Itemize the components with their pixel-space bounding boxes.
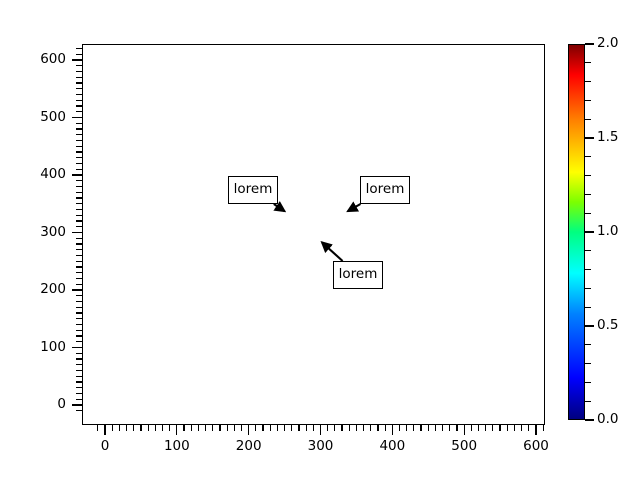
x-axis-major-tick — [535, 425, 536, 435]
colorbar-minor-tick — [585, 307, 591, 308]
y-axis-minor-tick — [76, 324, 82, 325]
x-axis-minor-tick — [428, 425, 429, 431]
colorbar-minor-tick — [585, 156, 591, 157]
y-axis-minor-tick — [76, 249, 82, 250]
x-axis-major-tick — [320, 425, 321, 435]
x-axis-tick-label: 300 — [291, 440, 351, 454]
x-axis-minor-tick — [406, 425, 407, 431]
y-axis-minor-tick — [76, 192, 82, 193]
x-axis-minor-tick — [162, 425, 163, 431]
x-axis-minor-tick — [507, 425, 508, 431]
y-axis-minor-tick — [76, 54, 82, 55]
y-axis-minor-tick — [76, 255, 82, 256]
y-axis-minor-tick — [76, 123, 82, 124]
x-axis-minor-tick — [399, 425, 400, 431]
x-axis-minor-tick — [528, 425, 529, 431]
y-axis-minor-tick — [76, 410, 82, 411]
y-axis-tick-label: 600 — [0, 53, 66, 67]
x-axis-minor-tick — [255, 425, 256, 431]
x-axis-minor-tick — [97, 425, 98, 431]
x-axis-minor-tick — [413, 425, 414, 431]
y-axis-minor-tick — [76, 94, 82, 95]
x-axis-minor-tick — [306, 425, 307, 431]
colorbar-minor-tick — [585, 344, 591, 345]
x-axis-minor-tick — [291, 425, 292, 431]
x-axis-minor-tick — [341, 425, 342, 431]
y-axis-minor-tick — [76, 370, 82, 371]
colorbar-minor-tick — [585, 250, 591, 251]
colorbar-major-tick — [585, 325, 594, 326]
colorbar-tick-label: 0.5 — [597, 319, 618, 333]
y-axis-minor-tick — [76, 134, 82, 135]
axes-frame — [82, 44, 545, 425]
y-axis-minor-tick — [76, 226, 82, 227]
x-axis-minor-tick — [155, 425, 156, 431]
y-axis-minor-tick — [76, 140, 82, 141]
y-axis-minor-tick — [76, 163, 82, 164]
x-axis-minor-tick — [219, 425, 220, 431]
x-axis-minor-tick — [148, 425, 149, 431]
colorbar-minor-tick — [585, 81, 591, 82]
y-axis-minor-tick — [76, 266, 82, 267]
annotation-label-2: lorem — [360, 176, 410, 204]
x-axis-minor-tick — [456, 425, 457, 431]
y-axis-minor-tick — [76, 312, 82, 313]
figure-canvas: 01002003004005006000100200300400500600 l… — [0, 0, 640, 480]
y-axis-minor-tick — [76, 186, 82, 187]
colorbar-minor-tick — [585, 269, 591, 270]
y-axis-minor-tick — [76, 65, 82, 66]
colorbar-minor-tick — [585, 194, 591, 195]
x-axis-minor-tick — [205, 425, 206, 431]
y-axis-minor-tick — [76, 358, 82, 359]
y-axis-minor-tick — [76, 272, 82, 273]
y-axis-minor-tick — [76, 88, 82, 89]
y-axis-minor-tick — [76, 203, 82, 204]
x-axis-minor-tick — [521, 425, 522, 431]
x-axis-minor-tick — [370, 425, 371, 431]
x-axis-tick-label: 0 — [75, 440, 135, 454]
y-axis-minor-tick — [76, 353, 82, 354]
x-axis-minor-tick — [241, 425, 242, 431]
x-axis-minor-tick — [133, 425, 134, 431]
y-axis-minor-tick — [76, 111, 82, 112]
x-axis-minor-tick — [499, 425, 500, 431]
y-axis-minor-tick — [76, 278, 82, 279]
x-axis-minor-tick — [435, 425, 436, 431]
annotation-label-3: lorem — [333, 261, 383, 289]
colorbar-minor-tick — [585, 363, 591, 364]
y-axis-major-tick — [72, 232, 82, 233]
x-axis-minor-tick — [349, 425, 350, 431]
y-axis-tick-label: 400 — [0, 168, 66, 182]
colorbar-major-tick — [585, 43, 594, 44]
x-axis-minor-tick — [327, 425, 328, 431]
y-axis-minor-tick — [76, 209, 82, 210]
x-axis-major-tick — [392, 425, 393, 435]
x-axis-major-tick — [176, 425, 177, 435]
x-axis-tick-label: 600 — [506, 440, 566, 454]
colorbar-major-tick — [585, 137, 594, 138]
x-axis-minor-tick — [356, 425, 357, 431]
y-axis-minor-tick — [76, 341, 82, 342]
colorbar-tick-label: 2.0 — [597, 37, 618, 51]
y-axis-minor-tick — [76, 180, 82, 181]
x-axis-minor-tick — [514, 425, 515, 431]
y-axis-minor-tick — [76, 284, 82, 285]
y-axis-minor-tick — [76, 220, 82, 221]
y-axis-minor-tick — [76, 215, 82, 216]
x-axis-tick-label: 200 — [219, 440, 279, 454]
y-axis-minor-tick — [76, 82, 82, 83]
y-axis-minor-tick — [76, 330, 82, 331]
y-axis-major-tick — [72, 174, 82, 175]
x-axis-minor-tick — [313, 425, 314, 431]
x-axis-minor-tick — [442, 425, 443, 431]
y-axis-minor-tick — [76, 393, 82, 394]
y-axis-major-tick — [72, 289, 82, 290]
y-axis-minor-tick — [76, 169, 82, 170]
x-axis-minor-tick — [227, 425, 228, 431]
y-axis-minor-tick — [76, 48, 82, 49]
colorbar-minor-tick — [585, 119, 591, 120]
y-axis-minor-tick — [76, 77, 82, 78]
x-axis-minor-tick — [234, 425, 235, 431]
x-axis-minor-tick — [449, 425, 450, 431]
colorbar-minor-tick — [585, 288, 591, 289]
x-axis-minor-tick — [277, 425, 278, 431]
x-axis-tick-label: 100 — [147, 440, 207, 454]
x-axis-minor-tick — [212, 425, 213, 431]
x-axis-minor-tick — [191, 425, 192, 431]
colorbar-tick-label: 1.0 — [597, 225, 618, 239]
x-axis-major-tick — [464, 425, 465, 435]
x-axis-minor-tick — [298, 425, 299, 431]
x-axis-minor-tick — [420, 425, 421, 431]
x-axis-major-tick — [248, 425, 249, 435]
x-axis-minor-tick — [385, 425, 386, 431]
y-axis-major-tick — [72, 404, 82, 405]
y-axis-minor-tick — [76, 335, 82, 336]
x-axis-minor-tick — [543, 425, 544, 431]
y-axis-minor-tick — [76, 301, 82, 302]
x-axis-minor-tick — [112, 425, 113, 431]
y-axis-minor-tick — [76, 399, 82, 400]
x-axis-minor-tick — [183, 425, 184, 431]
x-axis-minor-tick — [363, 425, 364, 431]
y-axis-minor-tick — [76, 71, 82, 72]
y-axis-minor-tick — [76, 307, 82, 308]
y-axis-minor-tick — [76, 128, 82, 129]
y-axis-minor-tick — [76, 100, 82, 101]
x-axis-tick-label: 500 — [434, 440, 494, 454]
x-axis-minor-tick — [377, 425, 378, 431]
x-axis-minor-tick — [126, 425, 127, 431]
colorbar-minor-tick — [585, 382, 591, 383]
x-axis-tick-label: 400 — [362, 440, 422, 454]
x-axis-minor-tick — [262, 425, 263, 431]
x-axis-minor-tick — [492, 425, 493, 431]
y-axis-minor-tick — [76, 318, 82, 319]
y-axis-minor-tick — [76, 151, 82, 152]
x-axis-minor-tick — [478, 425, 479, 431]
x-axis-major-tick — [104, 425, 105, 435]
y-axis-tick-label: 500 — [0, 111, 66, 125]
y-axis-minor-tick — [76, 238, 82, 239]
x-axis-minor-tick — [334, 425, 335, 431]
colorbar-minor-tick — [585, 175, 591, 176]
colorbar — [568, 44, 585, 420]
y-axis-minor-tick — [76, 295, 82, 296]
y-axis-minor-tick — [76, 105, 82, 106]
y-axis-major-tick — [72, 59, 82, 60]
x-axis-minor-tick — [471, 425, 472, 431]
y-axis-minor-tick — [76, 243, 82, 244]
colorbar-minor-tick — [585, 100, 591, 101]
x-axis-minor-tick — [140, 425, 141, 431]
x-axis-minor-tick — [284, 425, 285, 431]
x-axis-minor-tick — [198, 425, 199, 431]
y-axis-tick-label: 0 — [0, 398, 66, 412]
y-axis-major-tick — [72, 347, 82, 348]
y-axis-minor-tick — [76, 146, 82, 147]
y-axis-minor-tick — [76, 387, 82, 388]
colorbar-major-tick — [585, 419, 594, 420]
colorbar-tick-label: 1.5 — [597, 131, 618, 145]
y-axis-major-tick — [72, 117, 82, 118]
colorbar-minor-tick — [585, 401, 591, 402]
colorbar-minor-tick — [585, 62, 591, 63]
x-axis-minor-tick — [485, 425, 486, 431]
y-axis-tick-label: 200 — [0, 283, 66, 297]
annotation-label-1: lorem — [228, 176, 278, 204]
y-axis-minor-tick — [76, 261, 82, 262]
y-axis-minor-tick — [76, 381, 82, 382]
colorbar-tick-label: 0.0 — [597, 413, 618, 427]
colorbar-minor-tick — [585, 213, 591, 214]
y-axis-minor-tick — [76, 376, 82, 377]
x-axis-minor-tick — [169, 425, 170, 431]
y-axis-tick-label: 100 — [0, 341, 66, 355]
x-axis-minor-tick — [119, 425, 120, 431]
y-axis-minor-tick — [76, 157, 82, 158]
y-axis-minor-tick — [76, 197, 82, 198]
y-axis-minor-tick — [76, 364, 82, 365]
x-axis-minor-tick — [270, 425, 271, 431]
y-axis-tick-label: 300 — [0, 226, 66, 240]
colorbar-major-tick — [585, 231, 594, 232]
